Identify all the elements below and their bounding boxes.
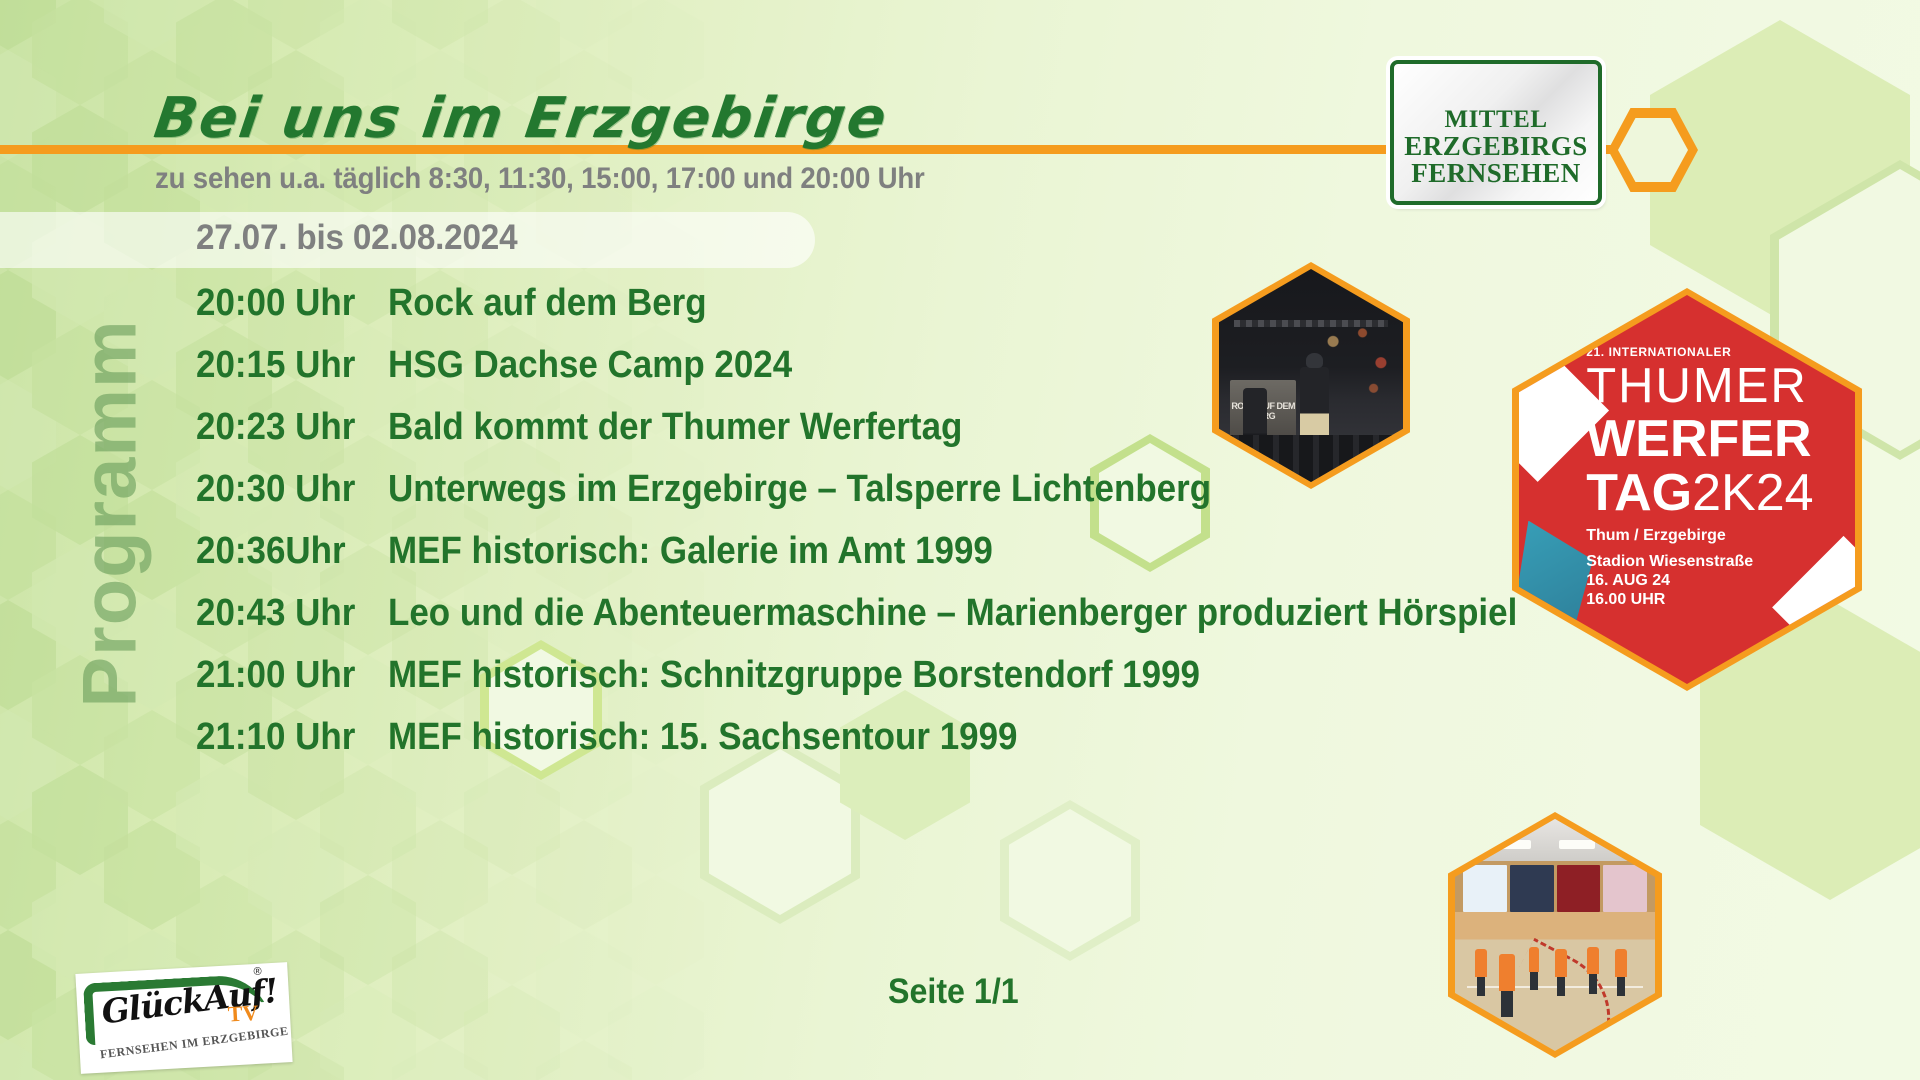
program-time: 20:43 Uhr [196, 592, 373, 635]
honeycomb-cell [32, 875, 128, 985]
honeycomb-cell [0, 600, 56, 710]
honeycomb-cell [0, 490, 56, 600]
program-time: 20:23 Uhr [196, 406, 373, 449]
mef-logo-line-2: ERZGEBIRGS [1404, 133, 1588, 161]
hall-banner [1510, 865, 1554, 911]
honeycomb-cell [176, 765, 272, 875]
program-row: 20:00 Uhr Rock auf dem Berg [196, 282, 1796, 344]
page-indicator: Seite 1/1 [888, 972, 1019, 1012]
poster-text-block: 21. INTERNATIONALER THUMER WERFER TAG2K2… [1586, 346, 1841, 611]
program-time: 20:30 Uhr [196, 468, 373, 511]
honeycomb-cell [608, 875, 704, 985]
honeycomb-cell [464, 875, 560, 985]
honeycomb-cell [392, 930, 488, 1040]
program-title: Unterwegs im Erzgebirge – Talsperre Lich… [388, 468, 1211, 511]
program-time: 21:00 Uhr [196, 654, 373, 697]
mef-station-logo: MITTEL ERZGEBIRGS FERNSEHEN [1390, 60, 1602, 205]
program-title: Leo und die Abenteuermaschine – Marienbe… [388, 592, 1517, 635]
program-row: 21:10 Uhr MEF historisch: 15. Sachsentou… [196, 716, 1796, 778]
handball-photo [1455, 819, 1655, 1051]
program-title: Bald kommt der Thumer Werfertag [388, 406, 962, 449]
honeycomb-cell [0, 930, 56, 1040]
stage-truss [1234, 320, 1389, 327]
poster-date: 16. AUG 24 [1586, 572, 1841, 591]
honeycomb-cell [32, 0, 128, 105]
hall-banner [1603, 865, 1647, 911]
ceiling-lamp [1559, 840, 1595, 849]
honeycomb-cell [32, 105, 128, 215]
broadcast-times-subtitle: zu sehen u.a. täglich 8:30, 11:30, 15:00… [155, 162, 925, 196]
program-title: MEF historisch: Schnitzgruppe Borstendor… [388, 654, 1200, 697]
poster-tag-year: 2K24 [1692, 464, 1813, 522]
honeycomb-cell [248, 820, 344, 930]
concert-photo: ROCK AUF DEM BERG [1219, 269, 1403, 482]
hall-ceiling [1455, 819, 1655, 861]
poster-line-tag: TAG2K24 [1586, 467, 1841, 519]
honeycomb-cell [320, 875, 416, 985]
honeycomb-cell [0, 270, 56, 380]
honeycomb-cell [0, 0, 56, 50]
program-title: HSG Dachse Camp 2024 [388, 344, 792, 387]
honeycomb-cell [536, 820, 632, 930]
honeycomb-cell [464, 765, 560, 875]
honeycomb-cell [536, 1040, 632, 1080]
player-figure [1587, 947, 1599, 975]
honeycomb-cell [536, 0, 632, 50]
honeycomb-cell [608, 985, 704, 1080]
honeycomb-cell [104, 820, 200, 930]
program-title: MEF historisch: 15. Sachsentour 1999 [388, 716, 1017, 759]
program-title: MEF historisch: Galerie im Amt 1999 [388, 530, 993, 573]
program-slide: Bei uns im Erzgebirge zu sehen u.a. tägl… [0, 0, 1920, 1080]
honeycomb-cell [320, 985, 416, 1080]
logo-registered-mark: ® [253, 966, 262, 978]
hall-banner [1557, 865, 1601, 911]
poster-line-thumer: THUMER [1586, 362, 1841, 411]
honeycomb-cell [536, 930, 632, 1040]
honeycomb-cell [392, 820, 488, 930]
player-figure [1615, 949, 1627, 977]
player-figure [1555, 949, 1567, 977]
hall-banners [1463, 865, 1647, 911]
poster-tag-bold: TAG [1586, 464, 1692, 522]
program-time: 20:00 Uhr [196, 282, 373, 325]
honeycomb-cell [392, 1040, 488, 1080]
page-title: Bei uns im Erzgebirge [150, 86, 892, 151]
honeycomb-cell [0, 50, 56, 160]
poster-venue-line-1: Thum / Erzgebirge [1586, 527, 1841, 546]
poster-venue-line-2: Stadion Wiesenstraße [1586, 553, 1841, 572]
program-time: 21:10 Uhr [196, 716, 373, 759]
player-figure [1499, 954, 1515, 991]
honeycomb-cell [320, 765, 416, 875]
handball-photo-hexagon [1448, 812, 1662, 1058]
honeycomb-cell [248, 0, 344, 50]
honeycomb-cell [608, 765, 704, 875]
mef-logo-line-3: FERNSEHEN [1411, 160, 1581, 188]
date-range-label: 27.07. bis 02.08.2024 [196, 218, 517, 258]
poster-line-werfer: WERFER [1586, 413, 1841, 465]
honeycomb-cell [392, 0, 488, 50]
mef-logo-line-1: MITTEL [1444, 107, 1547, 133]
program-row: 21:00 Uhr MEF historisch: Schnitzgruppe … [196, 654, 1796, 716]
glueckauf-tv-logo: GlückAuf! TV ® FERNSEHEN IM ERZGEBIRGE [75, 962, 292, 1074]
honeycomb-cell [464, 985, 560, 1080]
player-figure [1475, 949, 1487, 977]
program-title: Rock auf dem Berg [388, 282, 707, 325]
player-figure [1529, 947, 1539, 973]
program-time: 20:36Uhr [196, 530, 373, 573]
program-time: 20:15 Uhr [196, 344, 373, 387]
logo-tv-text: TV [227, 1000, 259, 1028]
poster-time: 16.00 UHR [1586, 591, 1841, 610]
deco-hexagon-outline-bottom-2 [1000, 800, 1140, 961]
hall-banner [1463, 865, 1507, 911]
honeycomb-cell [0, 1040, 56, 1080]
honeycomb-cell [0, 820, 56, 930]
honeycomb-cell [0, 380, 56, 490]
honeycomb-cell [104, 0, 200, 50]
ceiling-lamp [1495, 840, 1531, 849]
sidebar-vertical-label: Programm [67, 234, 154, 794]
honeycomb-cell [0, 710, 56, 820]
